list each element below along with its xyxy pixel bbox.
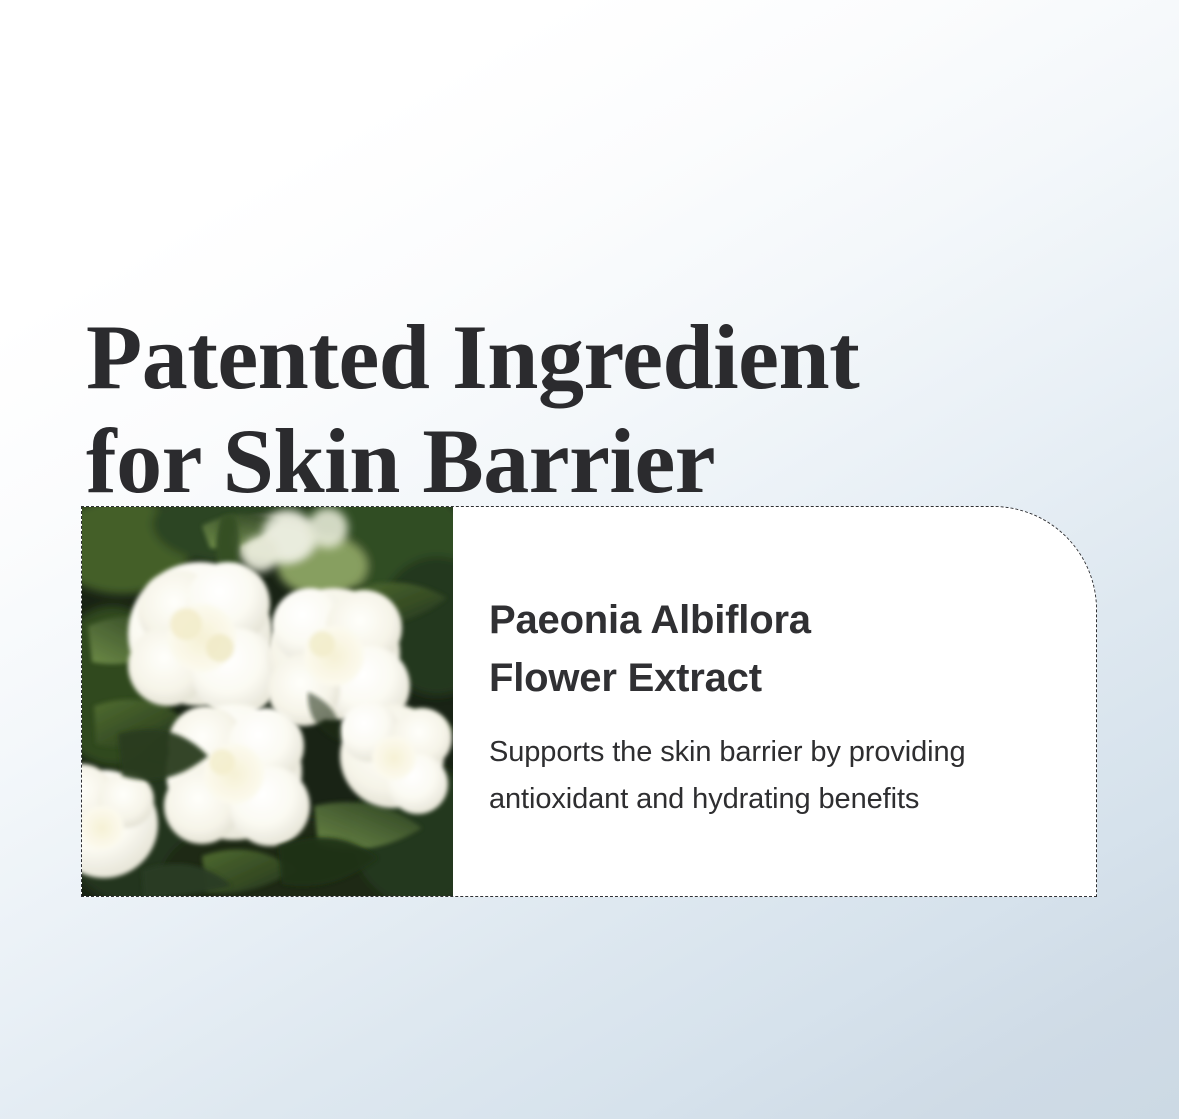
page-title: Patented Ingredient for Skin Barrier bbox=[86, 305, 1046, 513]
ingredient-photo bbox=[82, 507, 453, 896]
ingredient-name: Paeonia Albiflora Flower Extract bbox=[489, 591, 1056, 707]
ingredient-card: Paeonia Albiflora Flower Extract Support… bbox=[81, 506, 1097, 897]
peony-flower-image bbox=[82, 507, 453, 896]
ingredient-description: Supports the skin barrier by providing a… bbox=[489, 729, 1056, 823]
ingredient-text-panel: Paeonia Albiflora Flower Extract Support… bbox=[453, 507, 1096, 896]
promo-page: Patented Ingredient for Skin Barrier bbox=[0, 0, 1179, 1119]
